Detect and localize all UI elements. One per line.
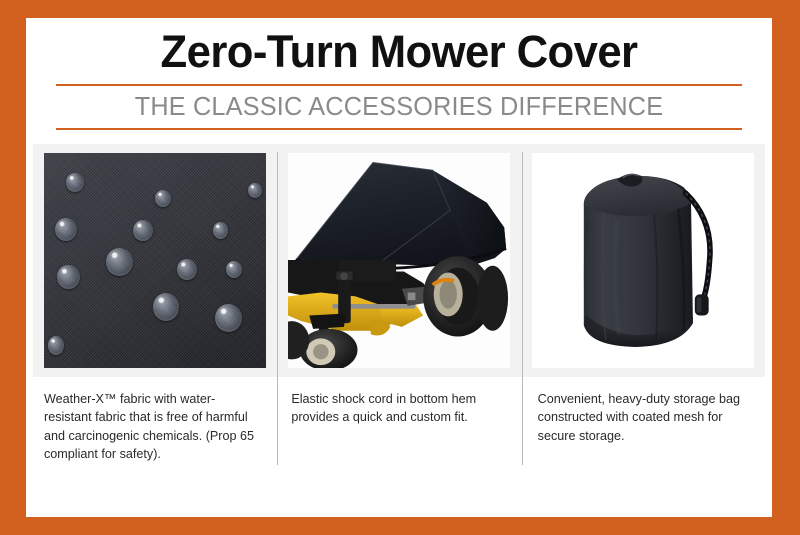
image-cell-3 [521, 144, 765, 377]
feature-caption: Convenient, heavy-duty storage bag const… [538, 390, 749, 444]
water-droplet [226, 261, 242, 278]
mower-cover-shock-cord-photo [288, 153, 510, 368]
water-droplet [153, 293, 180, 321]
caption-cell-1: Weather-X™ fabric with water-resistant f… [33, 384, 271, 463]
water-droplet [133, 220, 153, 242]
header-rule-bottom [56, 128, 742, 130]
feature-caption: Elastic shock cord in bottom hem provide… [291, 390, 502, 426]
water-droplet [248, 183, 261, 198]
image-cell-1 [33, 144, 277, 377]
orange-border-frame: Zero-Turn Mower Cover THE CLASSIC ACCESS… [0, 0, 800, 535]
page-title: Zero-Turn Mower Cover [37, 28, 761, 75]
water-beading-fabric-photo [44, 153, 266, 368]
image-cell-2 [277, 144, 521, 377]
header: Zero-Turn Mower Cover THE CLASSIC ACCESS… [26, 18, 772, 130]
water-droplet [66, 173, 84, 192]
water-droplet [106, 248, 133, 276]
page-subtitle: THE CLASSIC ACCESSORIES DIFFERENCE [30, 86, 769, 128]
mower-scene [288, 153, 510, 368]
water-droplet [177, 259, 197, 281]
storage-bag-photo [532, 153, 754, 368]
caption-cell-2: Elastic shock cord in bottom hem provide… [271, 384, 518, 463]
water-droplet [155, 190, 171, 207]
image-band [33, 144, 765, 377]
caption-row: Weather-X™ fabric with water-resistant f… [33, 384, 765, 463]
content-card: Zero-Turn Mower Cover THE CLASSIC ACCESS… [26, 18, 772, 517]
caption-cell-3: Convenient, heavy-duty storage bag const… [519, 384, 765, 463]
storage-bag-scene [532, 153, 754, 368]
feature-caption: Weather-X™ fabric with water-resistant f… [44, 390, 255, 463]
feature-panels: Weather-X™ fabric with water-resistant f… [26, 144, 772, 474]
water-droplet [215, 304, 242, 332]
water-droplet [57, 265, 79, 289]
